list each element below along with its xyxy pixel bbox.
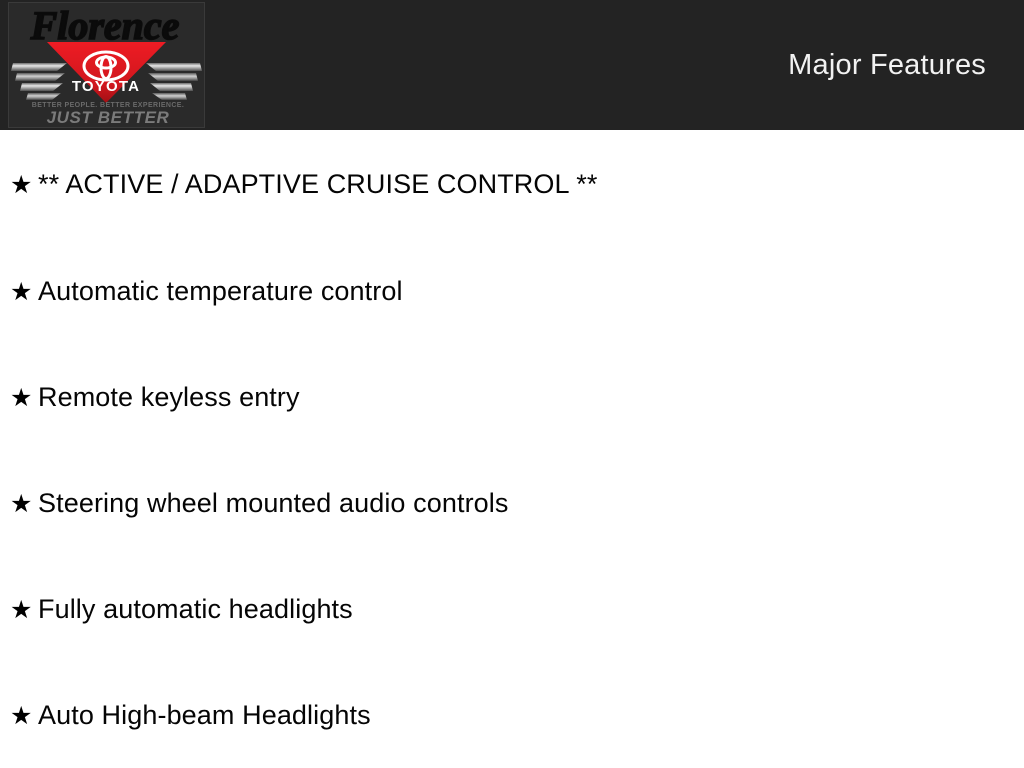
- feature-label: Steering wheel mounted audio controls: [38, 487, 509, 519]
- list-item: ★ Remote keyless entry: [10, 381, 300, 413]
- feature-label: Fully automatic headlights: [38, 593, 353, 625]
- feature-label: ** ACTIVE / ADAPTIVE CRUISE CONTROL **: [38, 168, 597, 200]
- star-bullet-icon: ★: [10, 701, 38, 731]
- list-item: ★ Fully automatic headlights: [10, 593, 353, 625]
- logo-tagline-large: JUST BETTER: [47, 108, 170, 127]
- feature-label: Auto High-beam Headlights: [38, 699, 371, 731]
- features-list: ★ ** ACTIVE / ADAPTIVE CRUISE CONTROL **…: [0, 130, 1024, 768]
- star-bullet-icon: ★: [10, 383, 38, 413]
- florence-toyota-logo-icon: TOYOTA Florence BETTER PEOPLE. BETTER EX…: [9, 3, 204, 127]
- florence-script: Florence: [30, 3, 180, 48]
- list-item: ★ Auto High-beam Headlights: [10, 699, 371, 731]
- star-bullet-icon: ★: [10, 170, 38, 200]
- slide-root: Major Features: [0, 0, 1024, 768]
- star-bullet-icon: ★: [10, 489, 38, 519]
- star-bullet-icon: ★: [10, 277, 38, 307]
- star-bullet-icon: ★: [10, 595, 38, 625]
- toyota-wordmark: TOYOTA: [72, 78, 140, 95]
- header-bar: Major Features: [0, 0, 1024, 130]
- feature-label: Automatic temperature control: [38, 275, 403, 307]
- list-item: ★ ** ACTIVE / ADAPTIVE CRUISE CONTROL **: [10, 168, 597, 200]
- dealer-logo: TOYOTA Florence BETTER PEOPLE. BETTER EX…: [8, 2, 205, 128]
- list-item: ★ Steering wheel mounted audio controls: [10, 487, 509, 519]
- feature-label: Remote keyless entry: [38, 381, 300, 413]
- list-item: ★ Automatic temperature control: [10, 275, 403, 307]
- page-title: Major Features: [788, 48, 986, 82]
